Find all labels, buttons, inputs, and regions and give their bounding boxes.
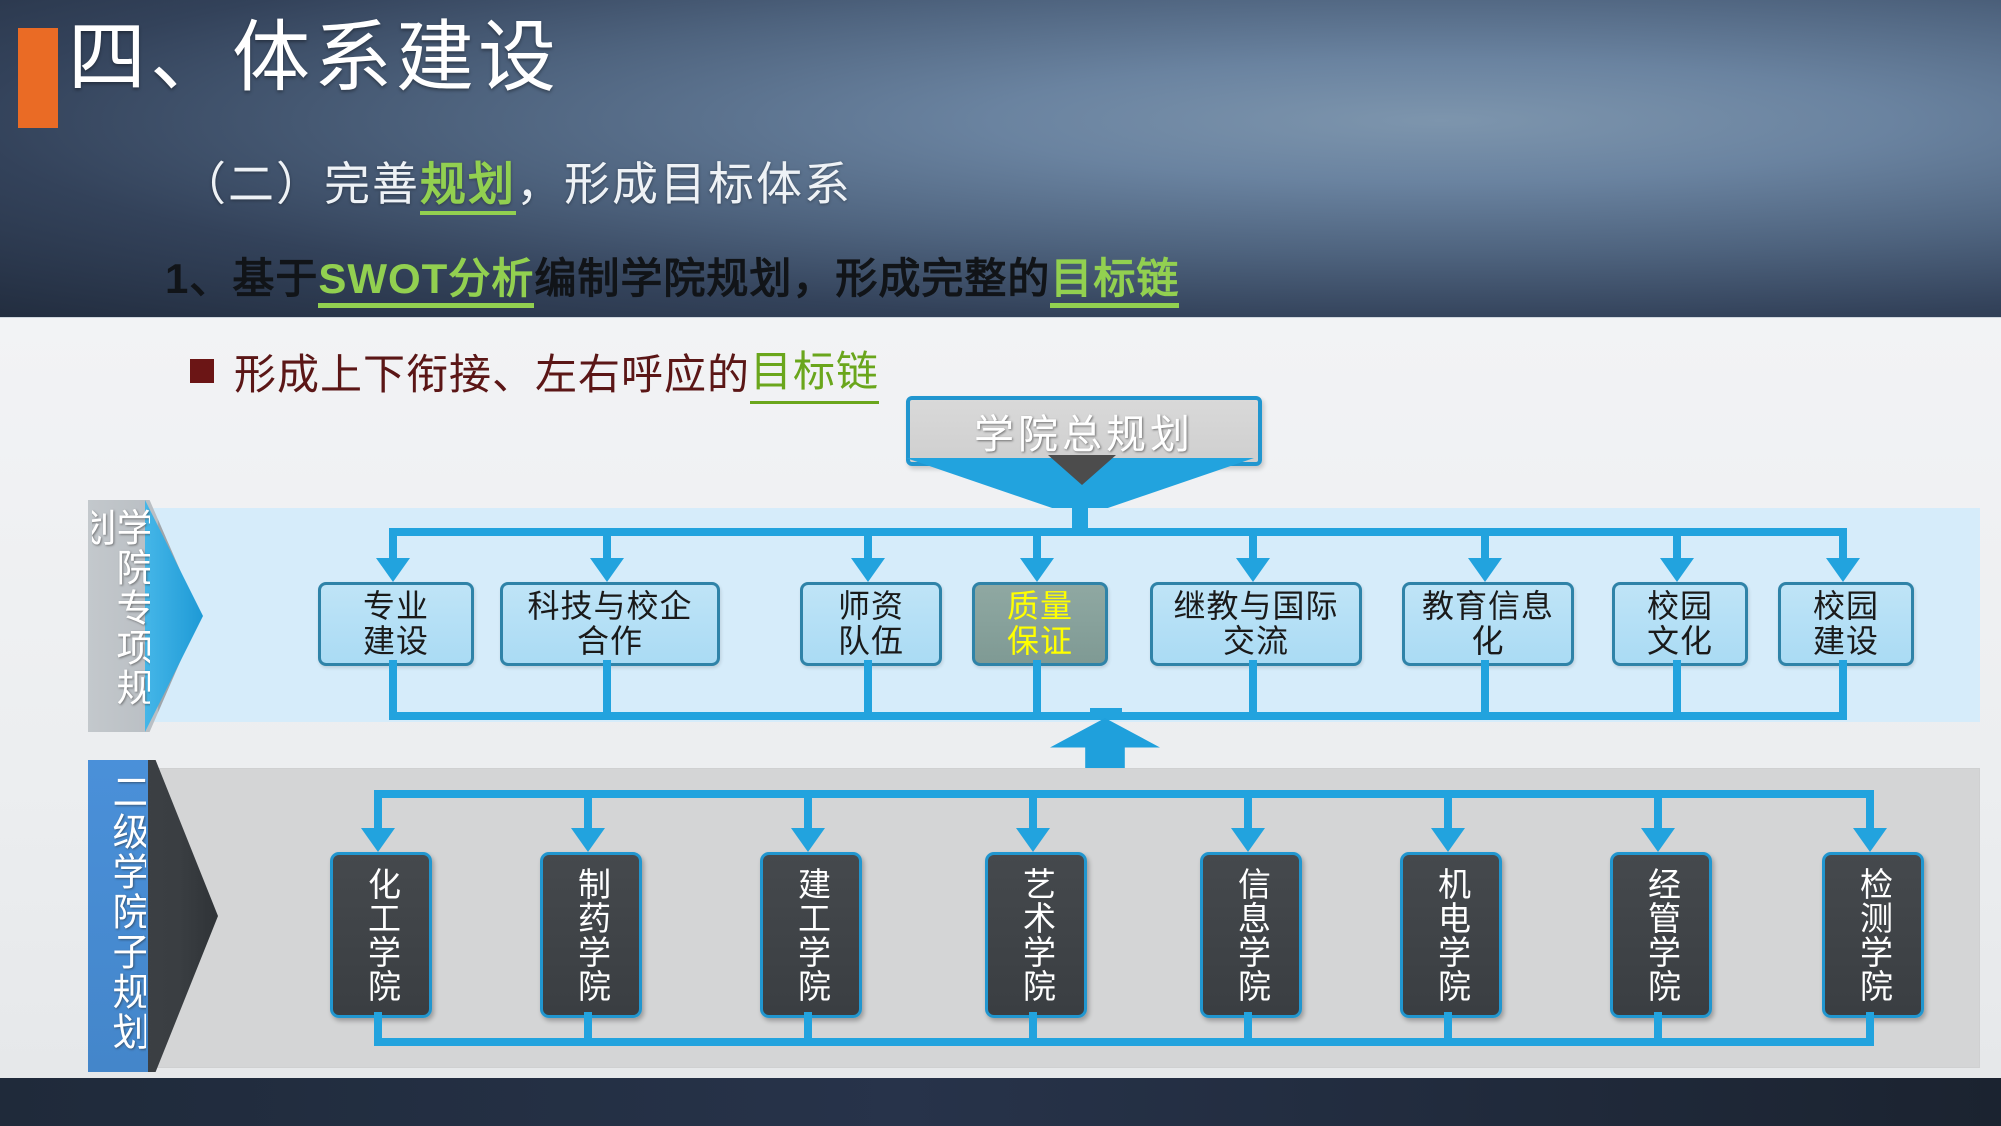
subtitle-prefix: （二）完善 — [180, 158, 420, 210]
node-special-plan[interactable]: 校园文化 — [1612, 582, 1748, 666]
arrowhead-icon — [376, 558, 410, 582]
node-label: 经管学院 — [1613, 855, 1709, 1015]
node-label: 艺术学院 — [988, 855, 1084, 1015]
connector-funnel-to-rail — [1072, 500, 1088, 534]
node-label: 教育信息化 — [1422, 589, 1554, 658]
node-special-plan[interactable]: 校园建设 — [1778, 582, 1914, 666]
arrowhead-icon — [851, 558, 885, 582]
numbered-point-line: 1、基于SWOT分析编制学院规划，形成完整的目标链 — [165, 245, 1179, 306]
connector-drop — [1654, 790, 1662, 830]
connector-riser — [584, 1012, 592, 1046]
arrowhead-icon — [590, 558, 624, 582]
node-label: 建工学院 — [763, 855, 859, 1015]
arrowhead-icon — [791, 828, 825, 852]
page-title: 四、体系建设 — [68, 14, 560, 104]
node-label: 制药学院 — [543, 855, 639, 1015]
node-label: 化工学院 — [333, 855, 429, 1015]
node-sub-college[interactable]: 艺术学院 — [985, 852, 1087, 1018]
band2-side-label: 二级学院子规划 — [92, 772, 146, 1070]
node-label: 信息学院 — [1203, 855, 1299, 1015]
arrowhead-icon — [1853, 828, 1887, 852]
connector-riser — [389, 660, 397, 720]
arrowhead-icon — [1431, 828, 1465, 852]
arrowhead-icon — [1660, 558, 1694, 582]
arrowhead-icon — [1016, 828, 1050, 852]
node-special-plan[interactable]: 教育信息化 — [1402, 582, 1574, 666]
subtitle-highlight: 规划 — [420, 158, 516, 215]
connector-rail-bottom-band2 — [378, 1038, 1870, 1046]
connector-drop — [1033, 528, 1041, 560]
connector-riser — [1244, 1012, 1252, 1046]
node-label: 科技与校企合作 — [527, 589, 692, 658]
band1-side-label: 学院专项规划 — [92, 508, 150, 734]
connector-riser — [603, 660, 611, 720]
node-label: 师资队伍 — [838, 589, 904, 658]
slide-canvas: 四、体系建设 （二）完善规划，形成目标体系 1、基于SWOT分析编制学院规划，形… — [0, 0, 2001, 1126]
connector-riser — [1654, 1012, 1662, 1046]
connector-riser — [374, 1012, 382, 1046]
point-middle: 编制学院规划，形成完整的 — [534, 255, 1050, 302]
connector-drop — [603, 528, 611, 560]
connector-riser — [1249, 660, 1257, 720]
node-special-plan[interactable]: 继教与国际交流 — [1150, 582, 1362, 666]
connector-riser — [1444, 1012, 1452, 1046]
connector-riser — [1673, 660, 1681, 720]
node-label: 检测学院 — [1825, 855, 1921, 1015]
connector-drop — [864, 528, 872, 560]
connector-drop — [389, 528, 397, 560]
arrowhead-icon — [1826, 558, 1860, 582]
node-special-plan[interactable]: 质量保证 — [972, 582, 1108, 666]
node-label: 校园建设 — [1813, 589, 1879, 658]
connector-drop — [1444, 790, 1452, 830]
node-special-plan[interactable]: 师资队伍 — [800, 582, 942, 666]
connector-drop — [374, 790, 382, 830]
connector-drop — [1244, 790, 1252, 830]
connector-riser — [1029, 1012, 1037, 1046]
point-highlight-goalchain: 目标链 — [1050, 255, 1179, 308]
connector-drop — [584, 790, 592, 830]
arrowhead-icon — [1231, 828, 1265, 852]
node-special-plan[interactable]: 科技与校企合作 — [500, 582, 720, 666]
arrowhead-icon — [1236, 558, 1270, 582]
connector-riser — [1839, 660, 1847, 720]
node-label: 继教与国际交流 — [1173, 589, 1338, 658]
connector-riser — [1481, 660, 1489, 720]
bullet-statement: 形成上下衔接、左右呼应的目标链 — [190, 338, 879, 404]
point-highlight-swot: SWOT分析 — [318, 255, 534, 308]
arrowhead-icon — [361, 828, 395, 852]
connector-drop — [1673, 528, 1681, 560]
mid-nub-top — [1090, 708, 1122, 718]
arrowhead-icon — [1020, 558, 1054, 582]
bullet-highlight: 目标链 — [750, 338, 879, 404]
node-sub-college[interactable]: 建工学院 — [760, 852, 862, 1018]
node-label: 校园文化 — [1647, 589, 1713, 658]
point-prefix: 1、基于 — [165, 255, 318, 302]
node-sub-college[interactable]: 机电学院 — [1400, 852, 1502, 1018]
arrowhead-icon — [1641, 828, 1675, 852]
arrowhead-icon — [1468, 558, 1502, 582]
node-sub-college[interactable]: 检测学院 — [1822, 852, 1924, 1018]
node-sub-college[interactable]: 经管学院 — [1610, 852, 1712, 1018]
down-triangle-icon — [1048, 455, 1116, 485]
connector-riser — [1033, 660, 1041, 720]
connector-drop — [804, 790, 812, 830]
arrowhead-icon — [571, 828, 605, 852]
node-sub-college[interactable]: 信息学院 — [1200, 852, 1302, 1018]
orange-accent-bar — [18, 28, 58, 128]
connector-drop — [1481, 528, 1489, 560]
connector-rail-top-band2 — [378, 790, 1870, 798]
subtitle-suffix: ，形成目标体系 — [516, 158, 852, 210]
bullet-text: 形成上下衔接、左右呼应的 — [234, 341, 750, 402]
node-label: 专业建设 — [363, 589, 429, 658]
square-bullet-icon — [190, 359, 214, 383]
slide-header: 四、体系建设 （二）完善规划，形成目标体系 1、基于SWOT分析编制学院规划，形… — [0, 0, 2001, 318]
connector-drop — [1249, 528, 1257, 560]
connector-drop — [1029, 790, 1037, 830]
connector-riser — [804, 1012, 812, 1046]
node-top-label: 学院总规划 — [974, 402, 1194, 460]
connector-riser — [1866, 1012, 1874, 1046]
connector-drop — [1866, 790, 1874, 830]
node-sub-college[interactable]: 制药学院 — [540, 852, 642, 1018]
slide-footer-bar — [0, 1078, 2001, 1126]
node-special-plan[interactable]: 专业建设 — [318, 582, 474, 666]
node-label: 机电学院 — [1403, 855, 1499, 1015]
connector-riser — [864, 660, 872, 720]
node-sub-college[interactable]: 化工学院 — [330, 852, 432, 1018]
subtitle-line: （二）完善规划，形成目标体系 — [180, 148, 852, 214]
node-label: 质量保证 — [1007, 589, 1073, 658]
connector-drop — [1839, 528, 1847, 560]
